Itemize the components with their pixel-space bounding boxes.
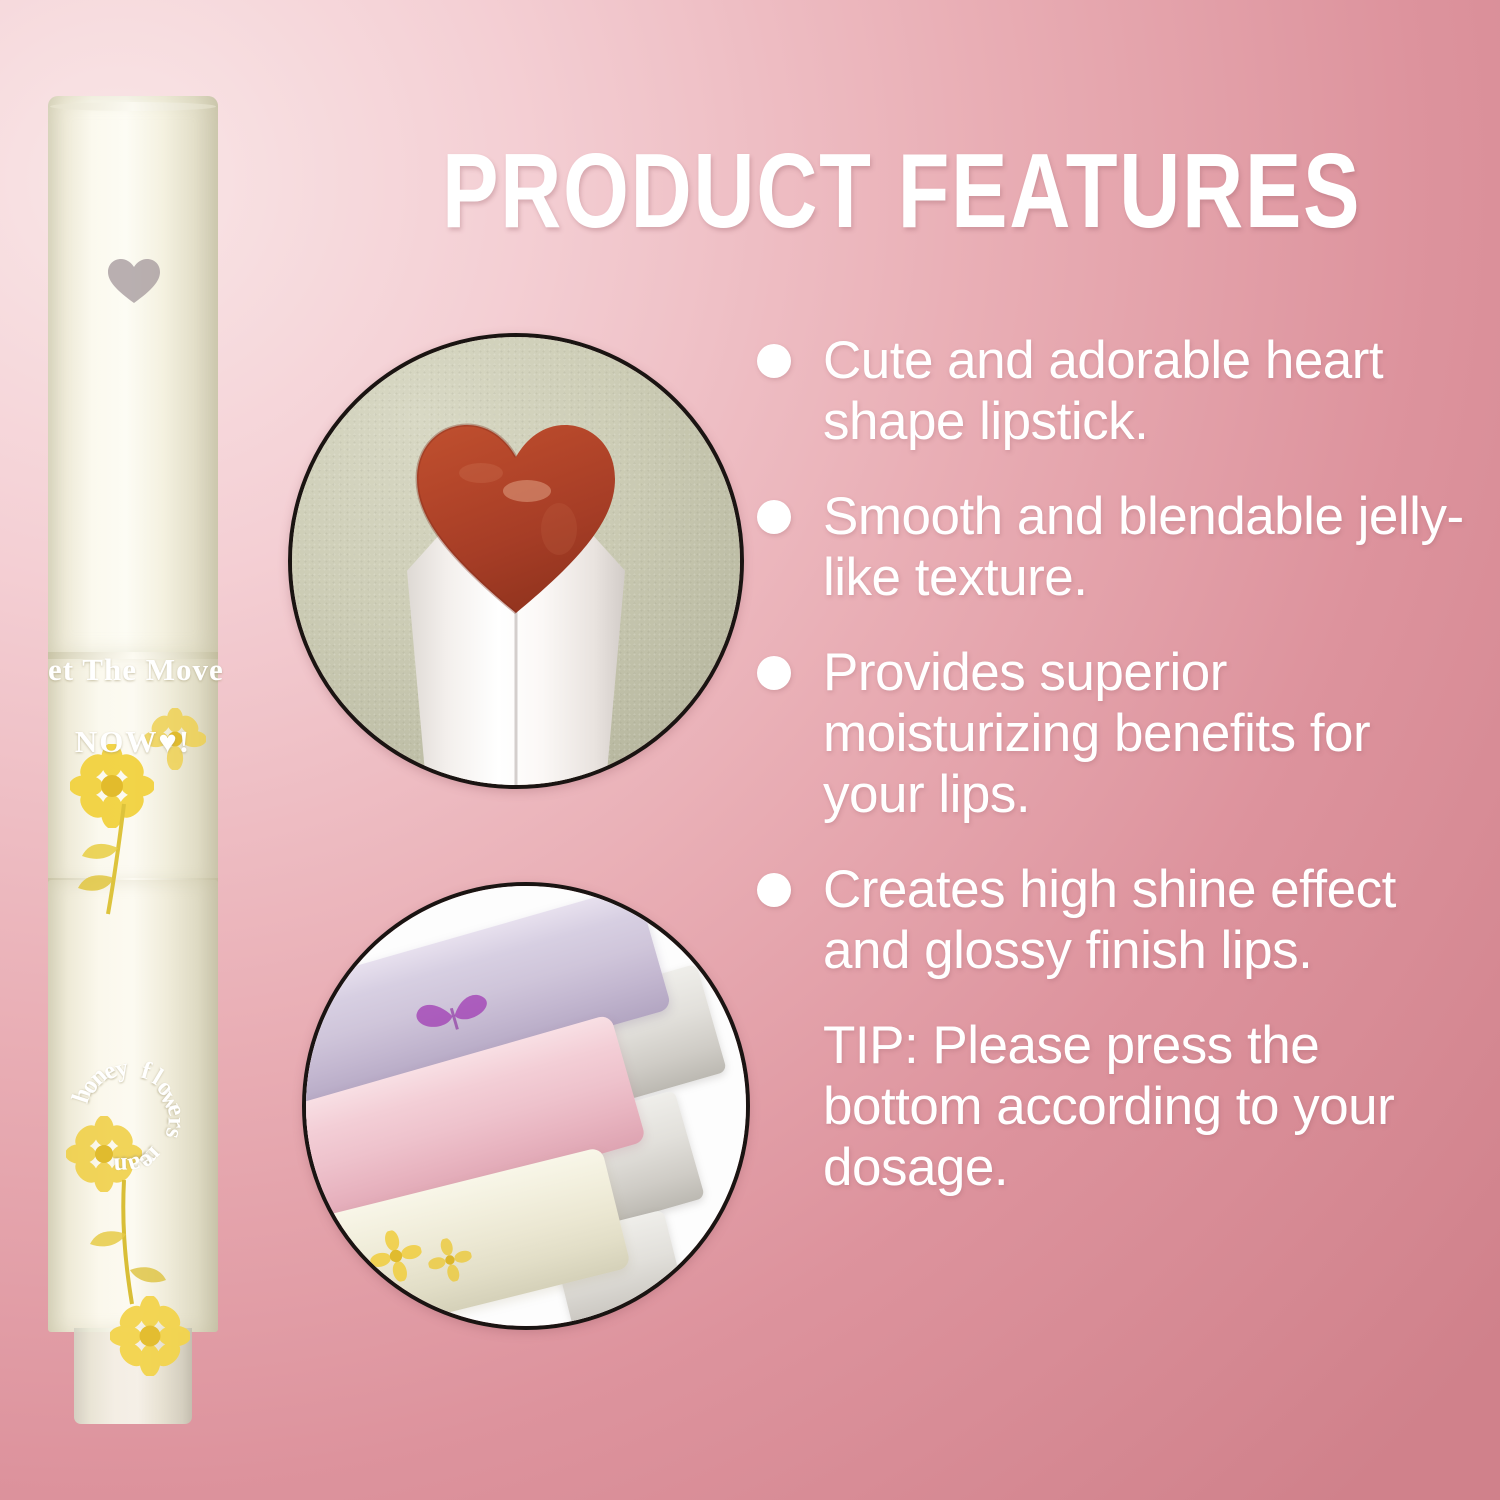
feature-item-text: Cute and adorable heart shape lipstick. xyxy=(823,331,1383,451)
bullet-dot-icon xyxy=(757,873,791,907)
ring-text-char: n xyxy=(113,1151,128,1179)
feature-item-text: Provides superior moisturizing benefits … xyxy=(823,643,1370,824)
tube-ring-upper xyxy=(48,652,218,659)
features-list: Cute and adorable heart shape lipstick.S… xyxy=(755,330,1485,1232)
heart-lipstick-bullet xyxy=(411,417,621,617)
tube-middle-section xyxy=(48,652,218,884)
feature-item-5: TIP: Please press the bottom according t… xyxy=(755,1015,1485,1198)
feature-item-text: Smooth and blendable jelly-like texture. xyxy=(823,487,1464,607)
bullet-dot-icon xyxy=(757,500,791,534)
photo-heart-lipstick-closeup xyxy=(288,333,744,789)
feature-item-2: Smooth and blendable jelly-like texture. xyxy=(755,486,1485,608)
feature-item-4: Creates high shine effect and glossy fin… xyxy=(755,859,1485,981)
tube-base xyxy=(74,1328,192,1424)
tube-cap xyxy=(48,96,218,656)
feature-item-text: TIP: Please press the bottom according t… xyxy=(823,1016,1394,1197)
tube-lower-section xyxy=(48,880,218,1332)
tube-cap-rim xyxy=(50,102,216,111)
product-features-infographic: PRODUCT FEATURES xyxy=(0,0,1500,1500)
feature-item-1: Cute and adorable heart shape lipstick. xyxy=(755,330,1485,452)
heart-icon xyxy=(106,256,162,306)
bullet-dot-icon xyxy=(757,656,791,690)
feature-item-3: Provides superior moisturizing benefits … xyxy=(755,642,1485,825)
photo-three-lipstick-tubes xyxy=(302,882,750,1330)
page-title: PRODUCT FEATURES xyxy=(442,136,1338,246)
product-tube-image: et The Move NOW♥! honeyflowersmean xyxy=(48,96,218,1386)
bullet-dot-icon xyxy=(757,344,791,378)
feature-item-text: Creates high shine effect and glossy fin… xyxy=(823,860,1396,980)
